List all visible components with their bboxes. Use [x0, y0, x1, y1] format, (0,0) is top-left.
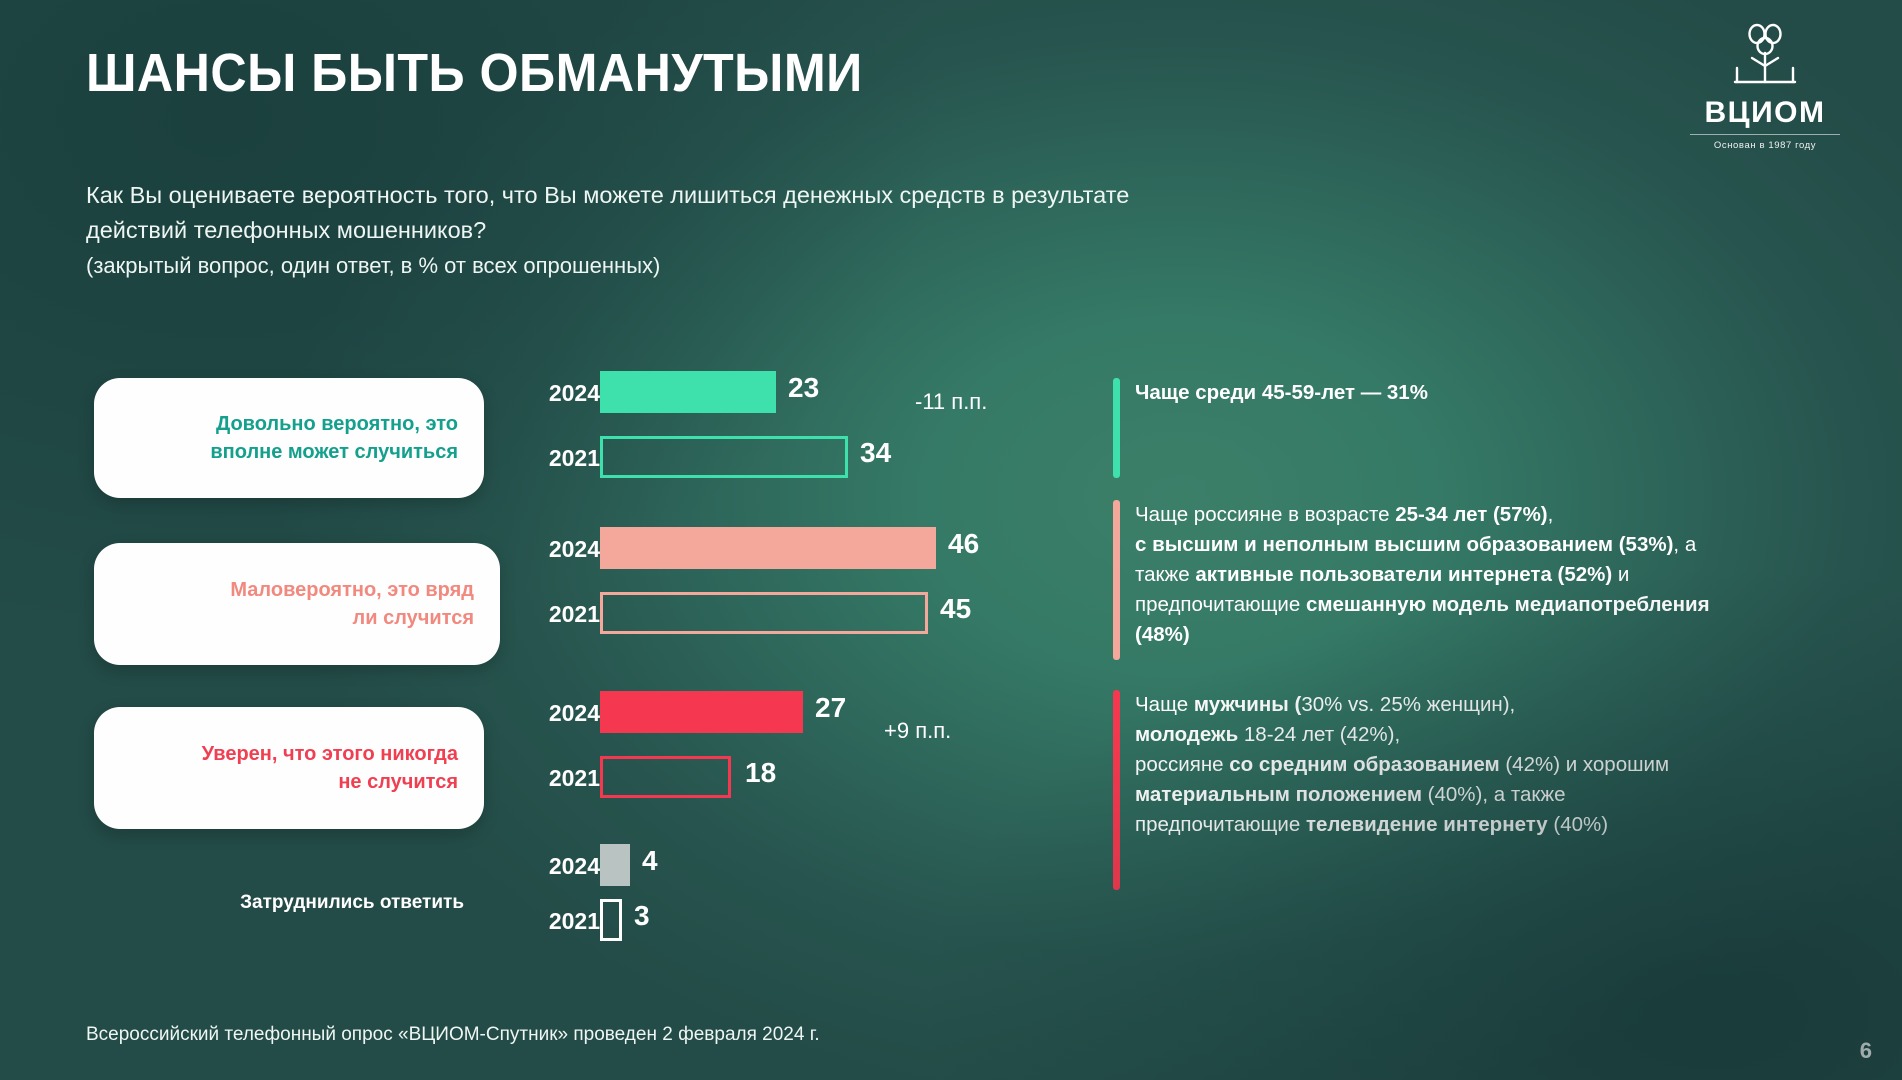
bar-value-2021-hard-to-say: 3	[634, 900, 650, 932]
delta-never: +9 п.п.	[884, 718, 951, 744]
bar-2021-never	[600, 756, 731, 798]
answer-label-line1: Довольно вероятно, это	[216, 413, 458, 435]
bar-value-2024-likely: 23	[788, 372, 819, 404]
bar-2021-unlikely	[600, 592, 928, 634]
answer-label-line1: Уверен, что этого никогда	[202, 743, 458, 765]
bar-value-2024-never: 27	[815, 692, 846, 724]
note-accent-bar	[1113, 500, 1120, 660]
year-label-2021: 2021	[516, 445, 600, 472]
bar-2024-never	[600, 691, 803, 733]
insight-note-likely: Чаще среди 45-59-лет — 31%	[1113, 378, 1813, 478]
bar-value-2021-never: 18	[745, 757, 776, 789]
note-text: Чаще мужчины (30% vs. 25% женщин),молоде…	[1135, 690, 1873, 840]
answer-label-hard-to-say: Затруднились ответить	[94, 892, 464, 914]
delta-likely: -11 п.п.	[915, 389, 987, 415]
bar-2021-likely	[600, 436, 848, 478]
insight-note-never: Чаще мужчины (30% vs. 25% женщин),молоде…	[1113, 690, 1873, 890]
insight-note-unlikely: Чаще россияне в возрасте 25-34 лет (57%)…	[1113, 500, 1873, 660]
footer-source: Всероссийский телефонный опрос «ВЦИОМ-Сп…	[86, 1024, 820, 1046]
answer-label-line1: Маловероятно, это вряд	[230, 579, 474, 601]
answer-label-line2: не случится	[338, 771, 458, 793]
bar-2021-hard-to-say	[600, 899, 622, 941]
slide-root: ШАНСЫ БЫТЬ ОБМАНУТЫМИ Как Вы оцениваете …	[0, 0, 1902, 1080]
answer-card-likely: Довольно вероятно, это вполне может случ…	[94, 378, 484, 498]
answer-card-never: Уверен, что этого никогда не случится	[94, 707, 484, 829]
year-label-2021: 2021	[516, 601, 600, 628]
year-label-2021: 2021	[516, 908, 600, 935]
note-accent-bar	[1113, 690, 1120, 890]
note-text: Чаще среди 45-59-лет — 31%	[1135, 378, 1813, 408]
note-accent-bar	[1113, 378, 1120, 478]
year-label-2021: 2021	[516, 765, 600, 792]
year-label-2024: 2024	[516, 536, 600, 563]
note-text: Чаще россияне в возрасте 25-34 лет (57%)…	[1135, 500, 1873, 650]
answer-label-line2: вполне может случиться	[210, 441, 458, 463]
year-label-2024: 2024	[516, 380, 600, 407]
answer-card-unlikely: Маловероятно, это вряд ли случится	[94, 543, 500, 665]
year-label-2024: 2024	[516, 853, 600, 880]
answer-label-line2: ли случится	[353, 607, 474, 629]
bar-2024-unlikely	[600, 527, 936, 569]
bar-value-2021-unlikely: 45	[940, 593, 971, 625]
bar-value-2021-likely: 34	[860, 437, 891, 469]
bar-2024-hard-to-say	[600, 844, 630, 886]
year-label-2024: 2024	[516, 700, 600, 727]
bar-value-2024-hard-to-say: 4	[642, 845, 658, 877]
page-number: 6	[1860, 1038, 1872, 1064]
bar-2024-likely	[600, 371, 776, 413]
bar-value-2024-unlikely: 46	[948, 528, 979, 560]
